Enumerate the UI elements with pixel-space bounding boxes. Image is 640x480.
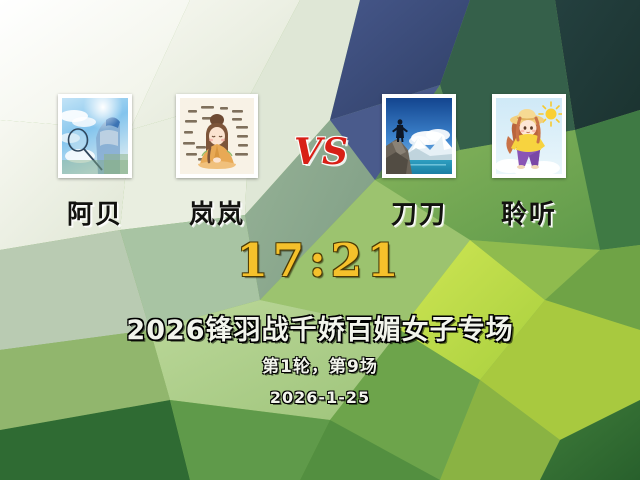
player-name-right-1: 刀刀 bbox=[369, 202, 469, 228]
match-score: 17:21 bbox=[0, 238, 640, 283]
match-date: 2026-1-25 bbox=[0, 389, 640, 407]
vs-label: VS bbox=[286, 134, 356, 170]
avatar-frame-player-1[interactable] bbox=[58, 94, 132, 178]
badminton-racket-sky-photo bbox=[62, 98, 128, 174]
player-name-left-1: 阿贝 bbox=[45, 202, 145, 228]
match-result-card: VS 阿贝 岚岚 刀刀 聆听 17:21 2026锋羽战千娇百媚女子专场 第1轮… bbox=[0, 0, 640, 480]
avatar-frame-player-4[interactable] bbox=[492, 94, 566, 178]
avatar-frame-player-3[interactable] bbox=[382, 94, 456, 178]
person-on-rock-mountain-lake-photo bbox=[386, 98, 452, 174]
player-name-right-2: 聆听 bbox=[479, 202, 579, 228]
meditating-girl-illustration bbox=[180, 98, 254, 174]
cartoon-girl-hat-sun-illustration bbox=[496, 98, 562, 174]
avatar-frame-player-2[interactable] bbox=[176, 94, 258, 178]
event-title: 2026锋羽战千娇百媚女子专场 bbox=[0, 316, 640, 346]
round-and-match-label: 第1轮，第9场 bbox=[0, 358, 640, 377]
player-name-left-2: 岚岚 bbox=[163, 202, 271, 228]
